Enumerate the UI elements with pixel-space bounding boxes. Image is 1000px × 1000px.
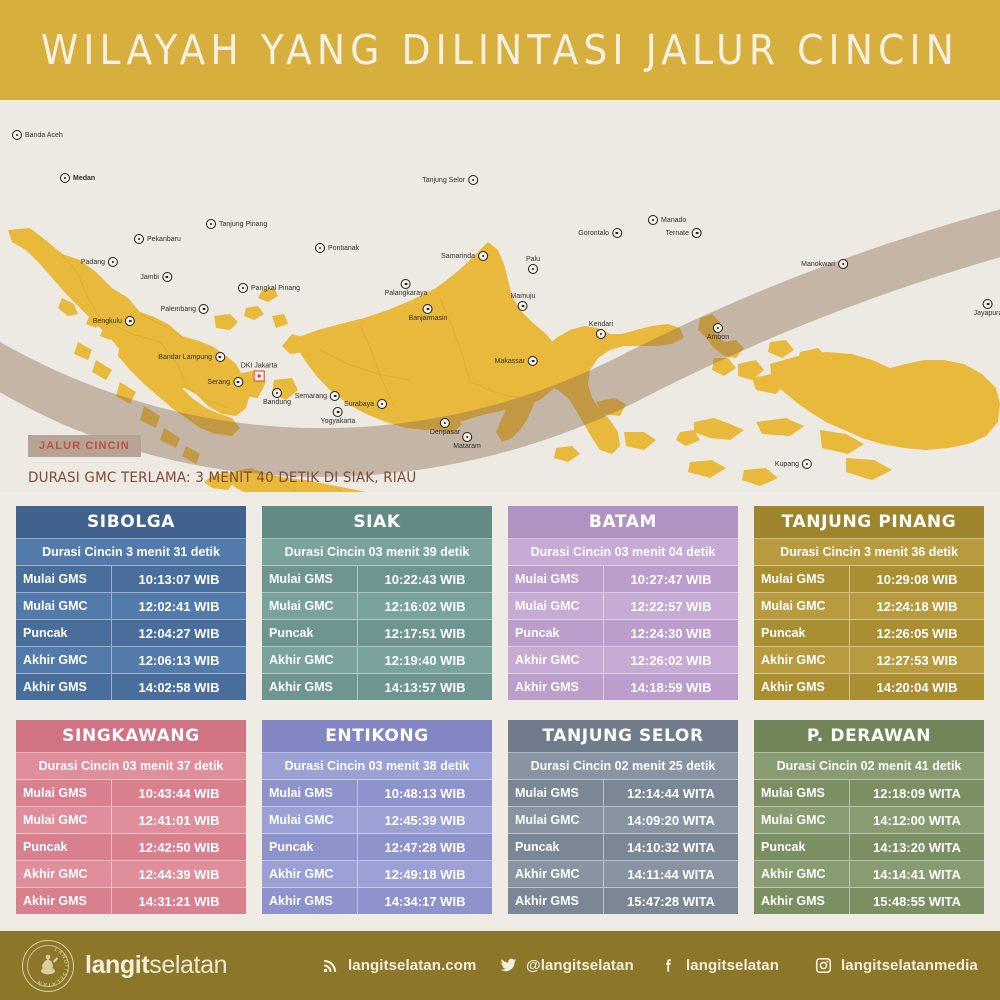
city-marker-icon — [838, 259, 848, 269]
card-row: Mulai GMC14:09:20 WITA — [508, 807, 738, 834]
map-city-tanjung-pinang: Tanjung Pinang — [206, 219, 267, 229]
card-row-label: Mulai GMC — [262, 807, 358, 833]
map-city-mamuju: Mamuju — [511, 293, 536, 311]
instagram-label: langitselatanmedia — [841, 957, 978, 974]
card-city-name: TANJUNG SELOR — [508, 720, 738, 753]
city-marker-icon — [134, 234, 144, 244]
map-city-pontianak: Pontianak — [315, 243, 359, 253]
footer-link-website[interactable]: langitselatan.com — [322, 957, 476, 974]
map-city-label: Makassar — [495, 358, 525, 365]
card-row-label: Akhir GMC — [508, 861, 604, 887]
card-row-value: 12:42:50 WIB — [112, 834, 246, 860]
map-city-label: Ternate — [666, 230, 689, 237]
city-marker-icon — [272, 388, 282, 398]
website-label: langitselatan.com — [348, 957, 476, 974]
card-row-label: Puncak — [508, 620, 604, 646]
card-row: Mulai GMC12:41:01 WIB — [16, 807, 246, 834]
map-caption: DURASI GMC TERLAMA: 3 MENIT 40 DETIK DI … — [28, 470, 416, 486]
card-row-label: Mulai GMC — [508, 593, 604, 619]
card-row: Akhir GMS14:31:21 WIB — [16, 888, 246, 914]
card-row: Akhir GMC12:06:13 WIB — [16, 647, 246, 674]
map-city-label: Medan — [73, 175, 95, 182]
city-marker-icon — [528, 356, 538, 366]
map-city-banda-aceh: Banda Aceh — [12, 130, 63, 140]
card-row: Akhir GMC14:14:41 WITA — [754, 861, 984, 888]
card-city-name: P. DERAWAN — [754, 720, 984, 753]
map-city-pekanbaru: Pekanbaru — [134, 234, 181, 244]
card-row-value: 12:26:02 WIB — [604, 647, 738, 673]
map-city-label: Palangkaraya — [385, 290, 428, 297]
map-city-bengkulu: Bengkulu — [93, 316, 135, 326]
card-row-value: 12:44:39 WIB — [112, 861, 246, 887]
map-city-label: Serang — [207, 379, 230, 386]
card-row-label: Akhir GMS — [754, 888, 850, 914]
city-marker-icon — [401, 279, 411, 289]
map-city-label: Pangkal Pinang — [251, 285, 300, 292]
card-row-label: Akhir GMC — [754, 647, 850, 673]
map-city-ambon: Ambon — [707, 323, 729, 341]
card-row: Puncak12:24:30 WIB — [508, 620, 738, 647]
card-row: Mulai GMC12:02:41 WIB — [16, 593, 246, 620]
card-row-value: 12:26:05 WIB — [850, 620, 984, 646]
map-city-banjarmasin: Banjarmasin — [409, 304, 448, 322]
map-city-label: Palembang — [161, 306, 196, 313]
map-city-label: Mamuju — [511, 293, 536, 300]
card-row-value: 15:48:55 WITA — [850, 888, 984, 914]
map-city-padang: Padang — [81, 257, 118, 267]
instagram-icon — [815, 957, 832, 974]
card-row-value: 15:47:28 WITA — [604, 888, 738, 914]
timing-card-p-derawan: P. DERAWANDurasi Cincin 02 menit 41 deti… — [754, 720, 984, 914]
city-marker-icon — [518, 301, 528, 311]
card-row-value: 12:24:18 WIB — [850, 593, 984, 619]
card-row-value: 12:24:30 WIB — [604, 620, 738, 646]
map-city-manado: Manado — [648, 215, 686, 225]
card-row-value: 12:47:28 WIB — [358, 834, 492, 860]
brand-light: selatan — [149, 951, 227, 979]
map-city-palu: Palu — [526, 256, 540, 274]
city-marker-icon — [478, 251, 488, 261]
map-city-label: Samarinda — [441, 253, 475, 260]
card-row: Mulai GMS10:48:13 WIB — [262, 780, 492, 807]
card-row: Puncak12:42:50 WIB — [16, 834, 246, 861]
card-row: Puncak14:10:32 WITA — [508, 834, 738, 861]
city-marker-icon — [108, 257, 118, 267]
map-city-tanjung-selor: Tanjung Selor — [422, 175, 478, 185]
map-city-medan: Medan — [60, 173, 95, 183]
map-city-label: Jambi — [140, 274, 159, 281]
card-row-label: Mulai GMS — [754, 566, 850, 592]
page-title: WILAYAH YANG DILINTASI JALUR CINCIN — [41, 26, 959, 74]
card-row: Puncak12:04:27 WIB — [16, 620, 246, 647]
map-city-semarang: Semarang — [295, 391, 340, 401]
card-row-label: Puncak — [262, 834, 358, 860]
timing-card-siak: SIAKDurasi Cincin 03 menit 39 detikMulai… — [262, 506, 492, 700]
card-row-value: 14:14:41 WITA — [850, 861, 984, 887]
card-row: Mulai GMC14:12:00 WITA — [754, 807, 984, 834]
card-row: Mulai GMC12:16:02 WIB — [262, 593, 492, 620]
card-row-label: Mulai GMS — [16, 780, 112, 806]
card-row: Puncak14:13:20 WITA — [754, 834, 984, 861]
card-row: Mulai GMS10:27:47 WIB — [508, 566, 738, 593]
card-row-value: 14:09:20 WITA — [604, 807, 738, 833]
city-marker-icon — [612, 228, 622, 238]
card-duration: Durasi Cincin 03 menit 04 detik — [508, 539, 738, 566]
rss-icon — [322, 957, 339, 974]
card-row-label: Akhir GMC — [262, 861, 358, 887]
card-row-label: Mulai GMS — [508, 780, 604, 806]
map-city-dki-jakarta: DKI Jakarta — [241, 363, 278, 382]
card-row-label: Mulai GMC — [16, 593, 112, 619]
card-row-value: 14:31:21 WIB — [112, 888, 246, 914]
map-city-label: Jayapura — [974, 310, 1000, 317]
card-row: Akhir GMC12:19:40 WIB — [262, 647, 492, 674]
city-marker-icon — [215, 352, 225, 362]
card-duration: Durasi Cincin 02 menit 25 detik — [508, 753, 738, 780]
card-row: Akhir GMS15:47:28 WITA — [508, 888, 738, 914]
city-timing-cards: SIBOLGADurasi Cincin 3 menit 31 detikMul… — [0, 506, 1000, 926]
card-row: Puncak12:47:28 WIB — [262, 834, 492, 861]
city-marker-icon — [713, 323, 723, 333]
card-row: Mulai GMS10:22:43 WIB — [262, 566, 492, 593]
card-row-value: 12:16:02 WIB — [358, 593, 492, 619]
map-city-label: Padang — [81, 259, 105, 266]
map-city-label: Ambon — [707, 334, 729, 341]
city-marker-icon — [596, 329, 606, 339]
card-row-value: 12:02:41 WIB — [112, 593, 246, 619]
capital-marker-icon — [253, 371, 264, 382]
card-row-value: 10:13:07 WIB — [112, 566, 246, 592]
brand-bold: langit — [85, 951, 149, 979]
map-city-label: Gorontalo — [578, 230, 609, 237]
card-row-label: Akhir GMC — [16, 647, 112, 673]
city-marker-icon — [528, 264, 538, 274]
city-marker-icon — [648, 215, 658, 225]
card-duration: Durasi Cincin 03 menit 38 detik — [262, 753, 492, 780]
card-row-label: Mulai GMS — [508, 566, 604, 592]
card-duration: Durasi Cincin 03 menit 37 detik — [16, 753, 246, 780]
city-marker-icon — [206, 219, 216, 229]
card-city-name: SIAK — [262, 506, 492, 539]
footer-link-twitter[interactable]: @langitselatan — [500, 957, 634, 974]
card-row: Mulai GMS10:29:08 WIB — [754, 566, 984, 593]
card-row-label: Mulai GMS — [262, 780, 358, 806]
card-row: Akhir GMS14:20:04 WIB — [754, 674, 984, 700]
infographic-page: WILAYAH YANG DILINTASI JALUR CINCIN — [0, 0, 1000, 1000]
card-row: Akhir GMC12:49:18 WIB — [262, 861, 492, 888]
card-row-value: 14:13:57 WIB — [358, 674, 492, 700]
city-marker-icon — [983, 299, 993, 309]
card-row-value: 14:20:04 WIB — [850, 674, 984, 700]
twitter-label: @langitselatan — [526, 957, 634, 974]
card-row-label: Akhir GMC — [262, 647, 358, 673]
card-row-label: Akhir GMS — [262, 888, 358, 914]
map-city-jambi: Jambi — [140, 272, 172, 282]
map-city-bandar-lampung: Bandar Lampung — [158, 352, 225, 362]
brand: LANGITSELATAN langitselatan — [22, 940, 227, 992]
map-city-label: Pekanbaru — [147, 236, 181, 243]
card-row-label: Akhir GMS — [754, 674, 850, 700]
card-row: Mulai GMS12:18:09 WITA — [754, 780, 984, 807]
twitter-icon — [500, 957, 517, 974]
card-row: Akhir GMC14:11:44 WITA — [508, 861, 738, 888]
card-row-label: Puncak — [754, 834, 850, 860]
footer-link-instagram[interactable]: langitselatanmedia — [815, 957, 978, 974]
map-city-label: Banjarmasin — [409, 315, 448, 322]
map-city-label: Manokwari — [801, 261, 835, 268]
timing-card-singkawang: SINGKAWANGDurasi Cincin 03 menit 37 deti… — [16, 720, 246, 914]
card-row-label: Akhir GMS — [262, 674, 358, 700]
timing-card-sibolga: SIBOLGADurasi Cincin 3 menit 31 detikMul… — [16, 506, 246, 700]
map-city-pangkal-pinang: Pangkal Pinang — [238, 283, 300, 293]
map-city-makassar: Makassar — [495, 356, 538, 366]
card-row: Akhir GMS14:02:58 WIB — [16, 674, 246, 700]
card-row-label: Akhir GMS — [16, 674, 112, 700]
map-city-surabaya: Surabaya — [344, 399, 387, 409]
card-row-value: 12:17:51 WIB — [358, 620, 492, 646]
card-duration: Durasi Cincin 02 menit 41 detik — [754, 753, 984, 780]
map-city-label: Pontianak — [328, 245, 359, 252]
card-row: Mulai GMC12:45:39 WIB — [262, 807, 492, 834]
card-row-value: 14:10:32 WITA — [604, 834, 738, 860]
card-row-label: Puncak — [16, 620, 112, 646]
card-city-name: SIBOLGA — [16, 506, 246, 539]
card-row-value: 12:14:44 WITA — [604, 780, 738, 806]
map-city-serang: Serang — [207, 377, 243, 387]
map-city-label: Yogyakarta — [321, 418, 356, 425]
map-city-label: Kendari — [589, 321, 613, 328]
card-duration: Durasi Cincin 03 menit 39 detik — [262, 539, 492, 566]
timing-card-entikong: ENTIKONGDurasi Cincin 03 menit 38 detikM… — [262, 720, 492, 914]
map-city-ternate: Ternate — [666, 228, 702, 238]
card-row-value: 14:12:00 WITA — [850, 807, 984, 833]
card-row-value: 14:11:44 WITA — [604, 861, 738, 887]
card-row-label: Puncak — [508, 834, 604, 860]
card-row-value: 14:13:20 WITA — [850, 834, 984, 860]
card-row-value: 10:27:47 WIB — [604, 566, 738, 592]
card-row-value: 12:45:39 WIB — [358, 807, 492, 833]
city-marker-icon — [315, 243, 325, 253]
city-marker-icon — [377, 399, 387, 409]
card-row-label: Akhir GMS — [508, 888, 604, 914]
map-city-label: DKI Jakarta — [241, 363, 278, 370]
card-row-label: Puncak — [16, 834, 112, 860]
city-marker-icon — [692, 228, 702, 238]
map-city-kendari: Kendari — [589, 321, 613, 339]
map-city-gorontalo: Gorontalo — [578, 228, 622, 238]
map-city-palangkaraya: Palangkaraya — [385, 279, 428, 297]
card-row: Akhir GMS14:34:17 WIB — [262, 888, 492, 914]
card-row-value: 12:49:18 WIB — [358, 861, 492, 887]
map-city-palembang: Palembang — [161, 304, 209, 314]
card-row-label: Akhir GMC — [754, 861, 850, 887]
card-row-label: Mulai GMC — [754, 593, 850, 619]
city-marker-icon — [330, 391, 340, 401]
card-row: Mulai GMS12:14:44 WITA — [508, 780, 738, 807]
card-row-value: 10:22:43 WIB — [358, 566, 492, 592]
map-city-label: Palu — [526, 256, 540, 263]
card-row-value: 12:41:01 WIB — [112, 807, 246, 833]
card-row-value: 14:18:59 WIB — [604, 674, 738, 700]
card-row: Mulai GMC12:22:57 WIB — [508, 593, 738, 620]
card-row-label: Mulai GMC — [754, 807, 850, 833]
card-row: Mulai GMS10:13:07 WIB — [16, 566, 246, 593]
map-city-label: Semarang — [295, 393, 327, 400]
city-marker-icon — [125, 316, 135, 326]
city-marker-icon — [12, 130, 22, 140]
card-row-value: 10:48:13 WIB — [358, 780, 492, 806]
card-row: Akhir GMS15:48:55 WITA — [754, 888, 984, 914]
card-row: Mulai GMC12:24:18 WIB — [754, 593, 984, 620]
map-city-label: Tanjung Pinang — [219, 221, 267, 228]
card-row-label: Mulai GMS — [754, 780, 850, 806]
card-city-name: TANJUNG PINANG — [754, 506, 984, 539]
map-city-label: Manado — [661, 217, 686, 224]
card-row-value: 14:34:17 WIB — [358, 888, 492, 914]
card-row-label: Akhir GMS — [16, 888, 112, 914]
map-city-label: Bandar Lampung — [158, 354, 212, 361]
map-city-yogyakarta: Yogyakarta — [321, 407, 356, 425]
map-city-manokwari: Manokwari — [801, 259, 848, 269]
map-city-samarinda: Samarinda — [441, 251, 488, 261]
card-row-value: 12:04:27 WIB — [112, 620, 246, 646]
card-row-value: 12:22:57 WIB — [604, 593, 738, 619]
card-row-value: 10:29:08 WIB — [850, 566, 984, 592]
city-marker-icon — [60, 173, 70, 183]
brand-wordmark: langitselatan — [85, 951, 227, 980]
card-row: Akhir GMC12:27:53 WIB — [754, 647, 984, 674]
card-row-value: 12:18:09 WITA — [850, 780, 984, 806]
card-row-label: Mulai GMC — [16, 807, 112, 833]
card-row-label: Puncak — [262, 620, 358, 646]
map-city-label: Surabaya — [344, 401, 374, 408]
city-marker-icon — [162, 272, 172, 282]
map-legend: JALUR CINCIN DURASI GMC TERLAMA: 3 MENIT… — [0, 425, 1000, 495]
card-row: Akhir GMS14:13:57 WIB — [262, 674, 492, 700]
city-marker-icon — [199, 304, 209, 314]
card-row-label: Mulai GMC — [262, 593, 358, 619]
map-city-label: Bengkulu — [93, 318, 122, 325]
card-row: Akhir GMS14:18:59 WIB — [508, 674, 738, 700]
card-row-label: Akhir GMC — [508, 647, 604, 673]
card-city-name: SINGKAWANG — [16, 720, 246, 753]
card-city-name: BATAM — [508, 506, 738, 539]
card-duration: Durasi Cincin 3 menit 36 detik — [754, 539, 984, 566]
card-row: Mulai GMS10:43:44 WIB — [16, 780, 246, 807]
card-row: Puncak12:17:51 WIB — [262, 620, 492, 647]
map-city-label: Banda Aceh — [25, 132, 63, 139]
card-row-value: 12:19:40 WIB — [358, 647, 492, 673]
card-duration: Durasi Cincin 3 menit 31 detik — [16, 539, 246, 566]
facebook-label: langitselatan — [686, 957, 779, 974]
card-row-value: 10:43:44 WIB — [112, 780, 246, 806]
timing-card-tanjung-selor: TANJUNG SELORDurasi Cincin 02 menit 25 d… — [508, 720, 738, 914]
card-row-label: Puncak — [754, 620, 850, 646]
card-row: Akhir GMC12:26:02 WIB — [508, 647, 738, 674]
footer-link-facebook[interactable]: langitselatan — [660, 957, 779, 974]
card-row-value: 14:02:58 WIB — [112, 674, 246, 700]
card-row-label: Mulai GMS — [262, 566, 358, 592]
facebook-icon — [660, 957, 677, 974]
card-row-value: 12:27:53 WIB — [850, 647, 984, 673]
map-city-label: Bandung — [263, 399, 291, 406]
card-row: Akhir GMC12:44:39 WIB — [16, 861, 246, 888]
map-city-bandung: Bandung — [263, 388, 291, 406]
legend-jalur-cincin: JALUR CINCIN — [28, 435, 141, 457]
map-city-label: Tanjung Selor — [422, 177, 465, 184]
langitselatan-seal-logo: LANGITSELATAN — [22, 940, 74, 992]
card-row: Puncak12:26:05 WIB — [754, 620, 984, 647]
card-row-label: Mulai GMS — [16, 566, 112, 592]
card-city-name: ENTIKONG — [262, 720, 492, 753]
timing-card-batam: BATAMDurasi Cincin 03 menit 04 detikMula… — [508, 506, 738, 700]
header-banner: WILAYAH YANG DILINTASI JALUR CINCIN — [0, 0, 1000, 100]
city-marker-icon — [468, 175, 478, 185]
card-row-label: Mulai GMC — [508, 807, 604, 833]
map-city-jayapura: Jayapura — [974, 299, 1000, 317]
card-row-label: Akhir GMS — [508, 674, 604, 700]
city-marker-icon — [333, 407, 343, 417]
footer-bar: LANGITSELATAN langitselatan — [0, 931, 1000, 1000]
city-marker-icon — [238, 283, 248, 293]
city-marker-icon — [423, 304, 433, 314]
card-row-label: Akhir GMC — [16, 861, 112, 887]
card-row-value: 12:06:13 WIB — [112, 647, 246, 673]
timing-card-tanjung-pinang: TANJUNG PINANGDurasi Cincin 3 menit 36 d… — [754, 506, 984, 700]
